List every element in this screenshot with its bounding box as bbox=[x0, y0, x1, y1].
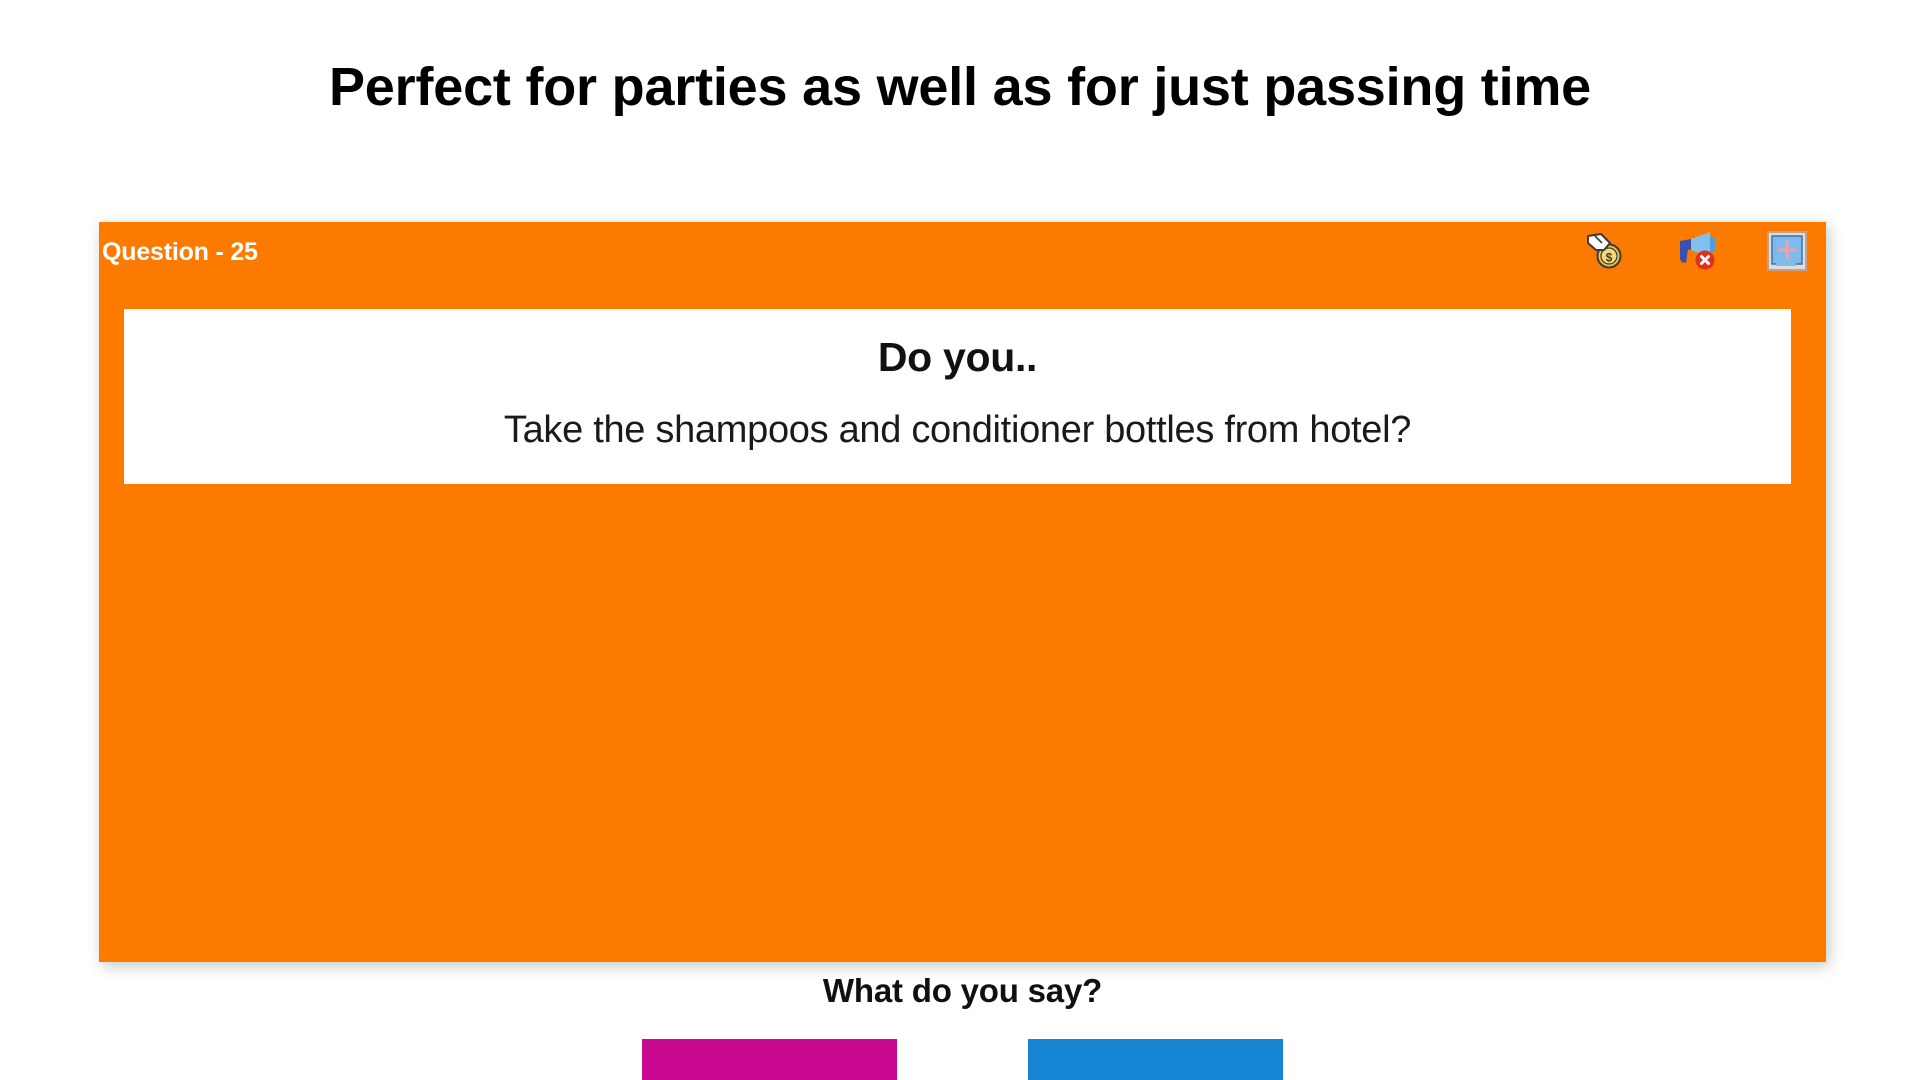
megaphone-muted-icon-button[interactable] bbox=[1673, 228, 1719, 274]
coin-hand-icon-button[interactable]: $ bbox=[1582, 228, 1628, 274]
question-counter: Question - 25 bbox=[102, 238, 258, 267]
answer-prompt: What do you say? bbox=[99, 972, 1826, 1010]
page-root: Perfect for parties as well as for just … bbox=[0, 0, 1920, 1080]
page-title: Perfect for parties as well as for just … bbox=[0, 58, 1920, 117]
quiz-panel: Question - 25 $ bbox=[99, 222, 1826, 962]
answer-button-group: Yes! No! bbox=[99, 1039, 1826, 1080]
add-frame-icon-button[interactable] bbox=[1764, 228, 1810, 274]
question-card: Do you.. Take the shampoos and condition… bbox=[124, 309, 1791, 484]
add-frame-icon bbox=[1767, 231, 1807, 271]
topbar-icon-group: $ bbox=[1582, 228, 1810, 274]
panel-topbar: Question - 25 $ bbox=[99, 222, 1826, 290]
megaphone-muted-icon bbox=[1674, 230, 1718, 272]
coin-hand-icon: $ bbox=[1584, 230, 1626, 272]
svg-text:$: $ bbox=[1606, 251, 1613, 265]
answer-yes-button[interactable]: Yes! bbox=[642, 1039, 897, 1080]
question-card-title: Do you.. bbox=[124, 334, 1791, 381]
question-card-text: Take the shampoos and conditioner bottle… bbox=[124, 409, 1791, 452]
answer-no-button[interactable]: No! bbox=[1028, 1039, 1283, 1080]
